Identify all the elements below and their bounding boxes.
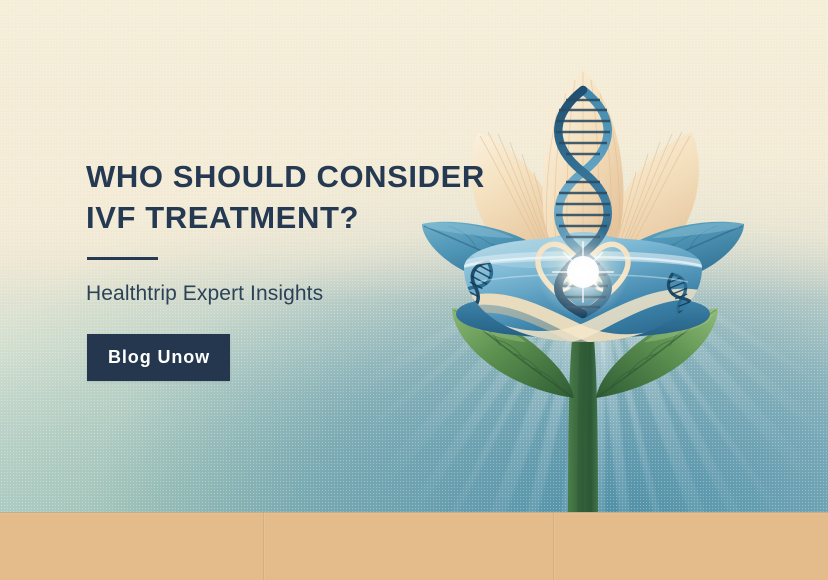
page-title-line2: IVF Treatment?	[86, 197, 486, 238]
banner-text-block: Who Should Consider IVF Treatment? Healt…	[86, 156, 486, 381]
banner-subtitle: Healthtrip Expert Insights	[86, 282, 486, 306]
page-title-line1: Who Should Consider	[86, 156, 486, 197]
wood-plank-seam	[553, 512, 555, 580]
wood-plank-seam	[263, 512, 265, 580]
title-divider	[87, 257, 158, 260]
stem	[568, 322, 598, 512]
blog-cta-button[interactable]: Blog Unow	[87, 334, 230, 381]
wooden-table-surface	[0, 512, 828, 580]
ivf-promo-banner: Who Should Consider IVF Treatment? Healt…	[0, 0, 828, 580]
wooden-table-edge	[0, 512, 828, 514]
light-burst	[537, 226, 629, 318]
